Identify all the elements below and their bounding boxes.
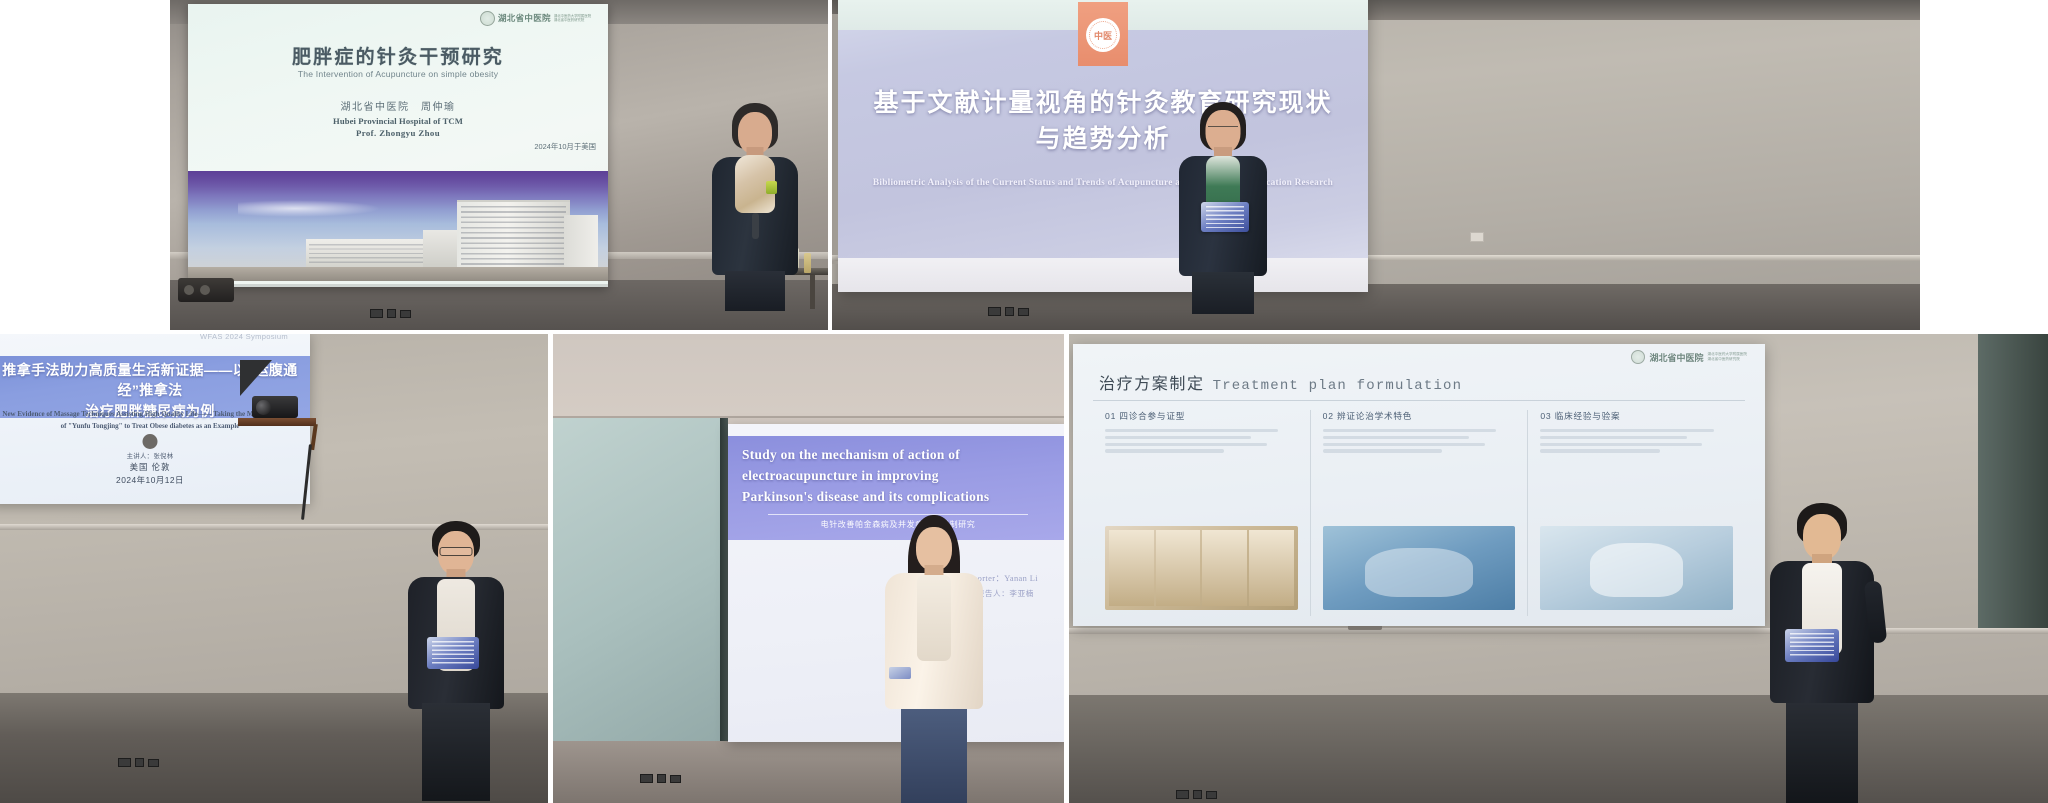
slide-affiliation-cn: 湖北省中医院 周仲瑜	[188, 98, 608, 113]
trousers	[422, 703, 490, 801]
floor-outlet-group	[988, 307, 1029, 316]
hospital-logo-icon: 湖北省中医院 湖北中医药大学附属医院 湖北省中医药研究院	[1631, 350, 1747, 364]
slide-heading: 治疗方案制定 Treatment plan formulation	[1099, 370, 1462, 394]
slide-title-en-line1: Study on the mechanism of action of	[742, 444, 1054, 465]
hospital-logo-subtext: 湖北中医药大学附属医院 湖北省中医药研究院	[1707, 352, 1747, 361]
av-equipment	[178, 278, 234, 302]
hospital-logo-text: 湖北省中医院	[498, 12, 551, 24]
eyeglasses-icon	[440, 547, 473, 556]
side-table-leg	[810, 275, 815, 309]
floor-outlet-group	[118, 758, 159, 767]
slide-subtitle-en: The Intervention of Acupuncture on simpl…	[188, 69, 608, 79]
gutter-horizontal	[0, 330, 2048, 334]
text-line	[1540, 429, 1713, 432]
presenter-treatment-plan-speaker	[1756, 503, 1888, 803]
ceiling	[552, 332, 1068, 418]
slide-location: 美国 伦敦	[0, 461, 310, 473]
floor-outlet-group	[640, 774, 681, 783]
column-image	[1323, 526, 1516, 610]
text-line	[1323, 443, 1485, 446]
held-document	[1201, 202, 1249, 232]
slide-column: 02 辨证论治学术特色	[1310, 410, 1528, 616]
slide-columns: 01 四诊合参与证型 02 辨证论治学术特色 03 临床经验与验案	[1093, 410, 1745, 616]
floor-outlet-wide-icon	[1176, 790, 1189, 799]
floor-outlet-wide-icon	[640, 774, 653, 783]
floor-outlet-square-icon	[1005, 307, 1014, 316]
panel-top-right: 中医 基于文献计量视角的针灸教育研究现状 与趋势分析 Bibliometric …	[830, 0, 1920, 332]
building-right	[564, 215, 598, 268]
text-line	[1540, 443, 1702, 446]
slide-column: 03 临床经验与验案	[1527, 410, 1745, 616]
slide-title-cn-line1: 基于文献计量视角的针灸教育研究现状	[838, 86, 1368, 122]
jeans	[901, 703, 967, 803]
floor-outlet-group	[370, 309, 411, 318]
floor-outlet-wide-icon	[988, 307, 1001, 316]
slide-title-cn: 肥胖症的针灸干预研究	[188, 42, 608, 69]
hospital-logo-subtext: 湖北中医药大学附属医院 湖北省中医药研究院	[554, 14, 591, 23]
hospital-seal-icon	[1631, 350, 1645, 364]
slide-title-en-line3: Parkinson's disease and its complication…	[742, 486, 1054, 507]
projection-screen-2: 中医 基于文献计量视角的针灸教育研究现状 与趋势分析 Bibliometric …	[838, 0, 1368, 292]
projection-screen-1: 湖北省中医院 湖北中医药大学附属医院 湖北省中医药研究院 肥胖症的针灸干预研究 …	[188, 4, 608, 287]
slide-heading-cn: 治疗方案制定	[1099, 370, 1205, 394]
presentation-photo-collage: 湖北省中医院 湖北中医药大学附属医院 湖北省中医药研究院 肥胖症的针灸干预研究 …	[0, 0, 2048, 803]
trousers	[725, 271, 785, 311]
name-badge	[766, 181, 777, 194]
slide-title-en: Study on the mechanism of action of elec…	[742, 444, 1054, 508]
wall-board-edge	[720, 418, 728, 748]
text-line	[1540, 449, 1659, 452]
floor-outlet-rect-icon	[670, 775, 681, 783]
building-tower	[457, 200, 570, 268]
floor-outlet-square-icon	[657, 774, 666, 783]
seal-banner: 中医	[1078, 2, 1128, 66]
slide-divider	[1093, 400, 1745, 401]
camera-flag	[240, 360, 272, 396]
text-line	[1323, 436, 1469, 439]
floor-outlet-square-icon	[1193, 790, 1202, 799]
presentation-clicker	[889, 667, 911, 679]
column-image	[1540, 526, 1733, 610]
eyeglasses-icon	[1208, 126, 1238, 133]
column-heading: 03 临床经验与验案	[1540, 410, 1733, 422]
ground	[188, 267, 608, 281]
presenter-zhongyu-zhou	[700, 103, 810, 308]
text-line	[1323, 449, 1442, 452]
floor-outlet-rect-icon	[148, 759, 159, 767]
hospital-seal-icon	[480, 11, 495, 26]
microphone-icon	[752, 213, 759, 239]
held-document	[1785, 629, 1839, 662]
slide-footer-band	[838, 258, 1368, 292]
hospital-building-photo	[188, 171, 608, 281]
cloud	[238, 200, 381, 218]
floor-outlet-group	[1176, 790, 1217, 799]
slide-column: 01 四诊合参与证型	[1093, 410, 1310, 616]
text-line	[1105, 429, 1278, 432]
slide-title-cn: 基于文献计量视角的针灸教育研究现状 与趋势分析	[838, 86, 1368, 157]
floor-outlet-wide-icon	[370, 309, 383, 318]
floor-outlet-rect-icon	[1206, 791, 1217, 799]
floor	[1068, 695, 2048, 803]
inner-top	[917, 575, 951, 661]
presenter-zhang-nilin	[396, 521, 516, 801]
gutter-vertical-1	[548, 332, 553, 803]
slide-host-label: 主讲人：张倪林	[0, 451, 310, 460]
trousers	[1786, 699, 1858, 803]
wall-board	[552, 418, 722, 748]
gutter-top-left	[0, 0, 170, 332]
floor-outlet-rect-icon	[1018, 308, 1029, 316]
gutter-vertical-top	[828, 0, 832, 332]
hospital-logo-text: 湖北省中医院	[1649, 351, 1703, 364]
presenter-yanan-li	[872, 515, 996, 803]
projection-screen-5: 湖北省中医院 湖北中医药大学附属医院 湖北省中医药研究院 治疗方案制定 Trea…	[1073, 344, 1765, 626]
gutter-top-right	[1920, 0, 2048, 332]
held-document	[427, 637, 479, 669]
gutter-vertical-2	[1064, 332, 1069, 803]
avatar	[143, 434, 158, 449]
seal-text: 中医	[1094, 29, 1112, 42]
floor-outlet-square-icon	[135, 758, 144, 767]
building-left	[306, 239, 432, 268]
text-line	[1105, 449, 1224, 452]
slide-heading-en: Treatment plan formulation	[1213, 378, 1463, 394]
floor-outlet-rect-icon	[400, 310, 411, 318]
text-line	[1105, 443, 1267, 446]
camera-lens-icon	[256, 400, 271, 415]
panel-bottom-right: 湖北省中医院 湖北中医药大学附属医院 湖北省中医药研究院 治疗方案制定 Trea…	[1068, 332, 2048, 803]
camera-shelf	[238, 418, 316, 426]
wall-rail	[1068, 628, 2048, 634]
column-heading: 02 辨证论治学术特色	[1323, 410, 1516, 422]
slide-date: 2024年10月12日	[0, 474, 310, 486]
trousers	[1192, 272, 1254, 314]
floor-outlet-square-icon	[387, 309, 396, 318]
panel-top-left: 湖北省中医院 湖北中医药大学附属医院 湖北省中医药研究院 肥胖症的针灸干预研究 …	[170, 0, 830, 332]
column-heading: 01 四诊合参与证型	[1105, 410, 1298, 422]
presenter-bibliometric-speaker	[1168, 102, 1278, 312]
wall-dark-panel	[1978, 332, 2048, 632]
wall-plate	[1470, 232, 1484, 242]
panel-bottom-left: WFAS 2024 Symposium 推拿手法助力高质量生活新证据——以“运腹…	[0, 332, 552, 803]
column-image	[1105, 526, 1298, 610]
text-line	[1323, 429, 1496, 432]
panel-bottom-center: Study on the mechanism of action of elec…	[552, 332, 1068, 803]
organization-seal-icon: 中医	[1086, 18, 1120, 52]
floor-outlet-wide-icon	[118, 758, 131, 767]
slide-date: 2024年10月于美国	[534, 141, 596, 152]
text-line	[1105, 436, 1251, 439]
slide-affiliation-en: Hubei Provincial Hospital of TCM	[188, 116, 608, 126]
text-line	[1540, 436, 1686, 439]
slide-presenter-en: Prof. Zhongyu Zhou	[188, 128, 608, 138]
slide-title-cn-line2: 与趋势分析	[838, 122, 1368, 158]
hospital-logo-icon: 湖北省中医院 湖北中医药大学附属医院 湖北省中医药研究院	[480, 8, 600, 28]
slide-title-en-line2: electroacupuncture in improving	[742, 465, 1054, 486]
